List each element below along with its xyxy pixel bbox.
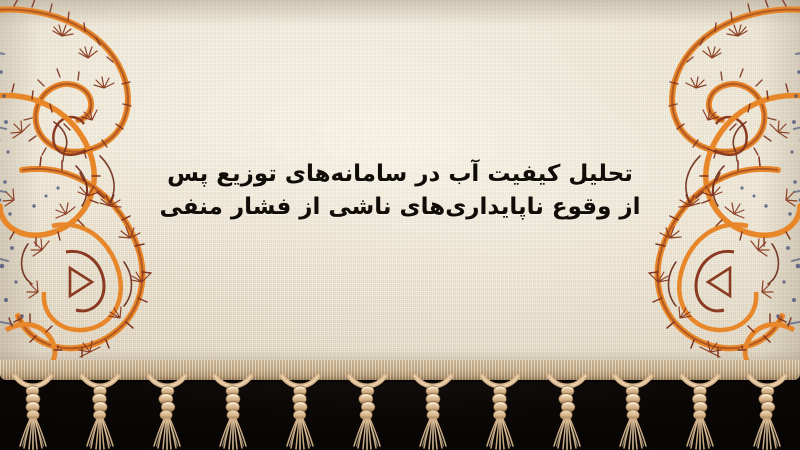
title-line-1: تحلیل کیفیت آب در سامانه‌های توزیع پس [167, 161, 633, 187]
tassel [679, 374, 721, 450]
tassel [279, 374, 321, 450]
title-line-2: از وقوع ناپایداری‌های ناشی از فشار منفی [80, 191, 720, 224]
title-block: تحلیل کیفیت آب در سامانه‌های توزیع پس از… [0, 0, 800, 372]
tassel [546, 374, 588, 450]
tassel [412, 374, 454, 450]
tassel [346, 374, 388, 450]
tassel [212, 374, 254, 450]
page-title: تحلیل کیفیت آب در سامانه‌های توزیع پس از… [80, 158, 720, 223]
tassel [746, 374, 788, 450]
tassel [79, 374, 121, 450]
tassel [146, 374, 188, 450]
tassel-row [0, 374, 800, 450]
slide-root: تحلیل کیفیت آب در سامانه‌های توزیع پس از… [0, 0, 800, 450]
fringe-band [0, 360, 800, 450]
tassel [612, 374, 654, 450]
tassel [12, 374, 54, 450]
tassel [479, 374, 521, 450]
